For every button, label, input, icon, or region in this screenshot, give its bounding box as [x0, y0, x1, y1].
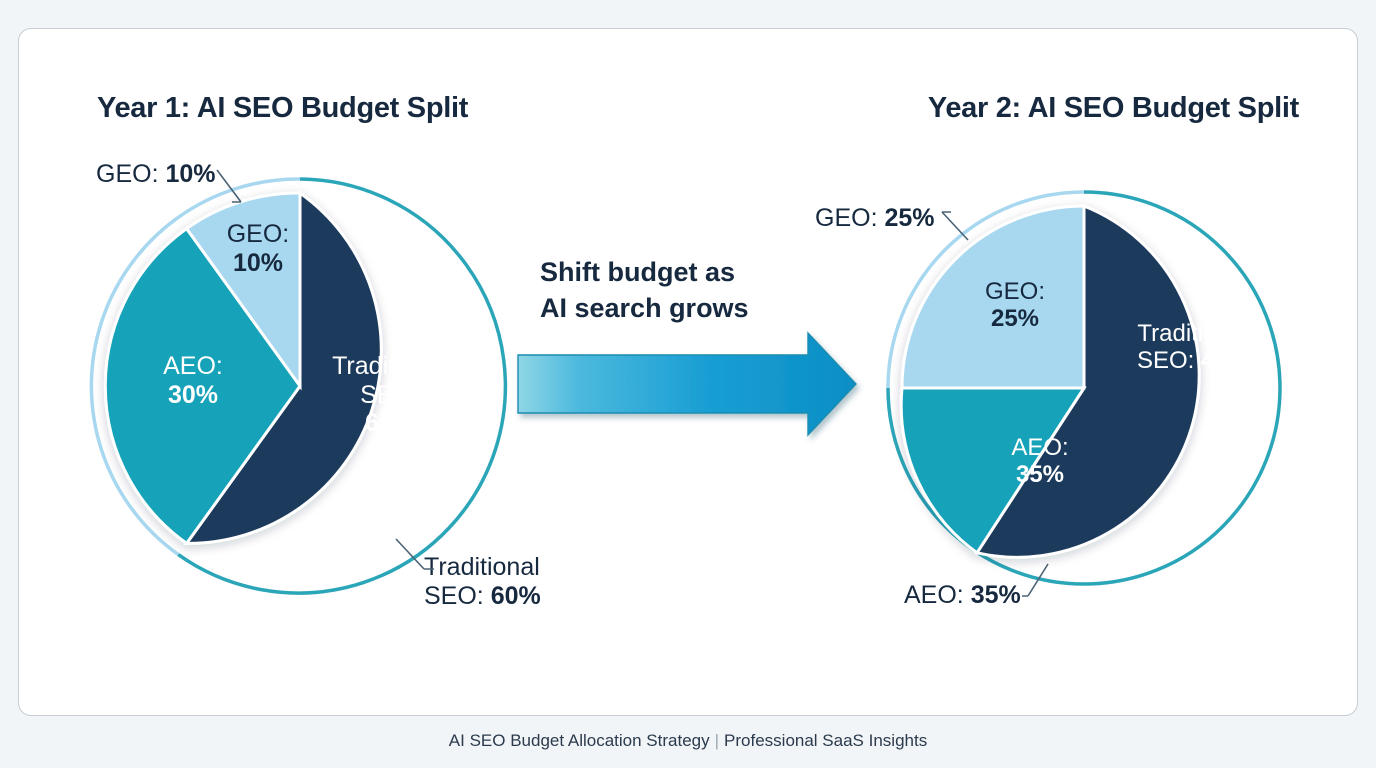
callout-value: 10%	[165, 160, 215, 188]
pie-slice-geo[interactable]	[902, 206, 1084, 388]
panel-title-year1: Year 1: AI SEO Budget Split	[97, 92, 468, 125]
leader-line-traditional-seo-year1	[392, 537, 442, 582]
callout-traditional-seo-year1: Traditional SEO: 60%	[424, 553, 604, 610]
arrow-caption: Shift budget as AI search grows	[540, 255, 749, 326]
pie-chart-year2	[872, 176, 1296, 600]
shift-budget-arrow-icon	[512, 331, 862, 455]
panel-title-year2: Year 2: AI SEO Budget Split	[928, 92, 1299, 125]
callout-label: GEO:	[96, 160, 165, 188]
arrow-shape	[518, 333, 856, 435]
callout-value: 35%	[971, 581, 1021, 609]
pie-chart-year1	[74, 160, 526, 612]
footer-right-text: Professional SaaS Insights	[724, 731, 927, 750]
leader-line-geo-year2	[940, 210, 982, 252]
callout-value: 60%	[491, 582, 541, 610]
shift-budget-block: Shift budget as AI search grows	[512, 255, 862, 455]
leader-line-aeo-year2	[1022, 562, 1062, 606]
callout-geo-year2: GEO: 25%	[815, 204, 935, 233]
callout-aeo-year2: AEO: 35%	[904, 581, 1021, 610]
leader-line-geo-year1	[215, 168, 265, 218]
callout-value: 25%	[884, 204, 934, 232]
footer-left-text: AI SEO Budget Allocation Strategy	[449, 731, 710, 750]
pie-slices-year2	[901, 206, 1199, 557]
footer-separator: |	[710, 731, 724, 750]
footer-caption: AI SEO Budget Allocation Strategy|Profes…	[0, 731, 1376, 751]
callout-label: GEO:	[815, 204, 884, 232]
pie-chart-year1-svg	[74, 160, 526, 612]
callout-label: AEO:	[904, 581, 971, 609]
callout-geo-year1: GEO: 10%	[96, 160, 216, 189]
pie-chart-year2-svg	[872, 176, 1296, 600]
